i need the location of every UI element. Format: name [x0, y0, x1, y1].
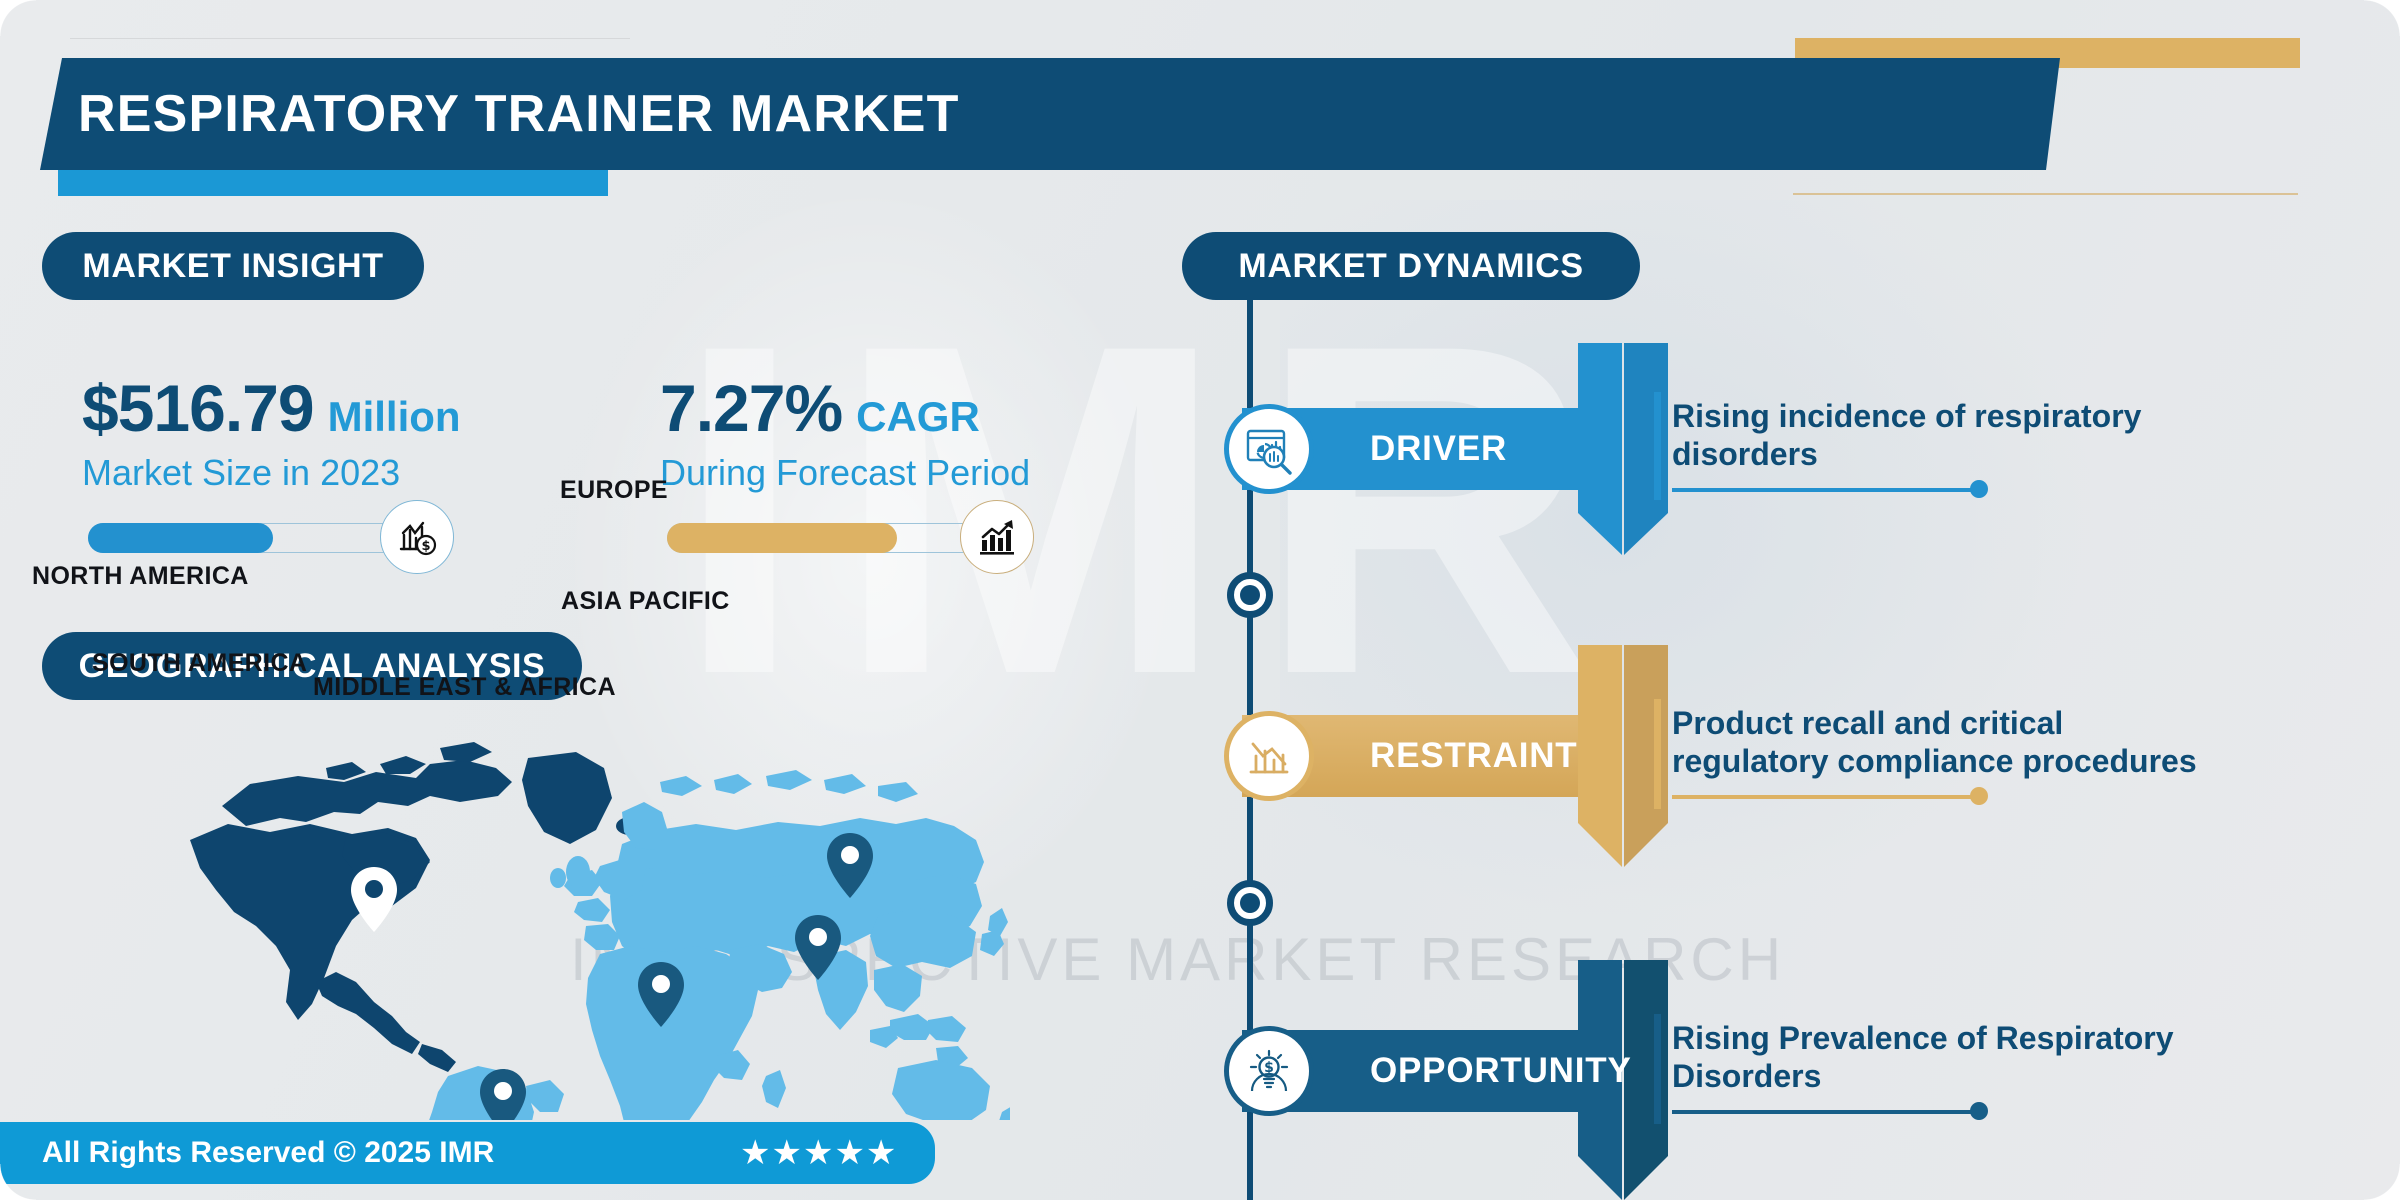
stat-market-size: $516.79Million Market Size in 2023 [82, 370, 622, 494]
footer-bar: All Rights Reserved © 2025 IMR ★★★★★ [0, 1122, 935, 1184]
header-gold-hairline [1793, 193, 2298, 195]
description-underline [1672, 486, 2312, 492]
report-magnifier-icon [1224, 404, 1314, 494]
section-pill-market-dynamics: MARKET DYNAMICS [1182, 232, 1640, 300]
stat-caption: During Forecast Period [660, 452, 1220, 494]
map-label-middle-east-africa: MIDDLE EAST & AFRICA [313, 673, 616, 702]
dynamics-label: RESTRAINT [1370, 736, 1577, 776]
section-pill-label: MARKET INSIGHT [82, 247, 383, 286]
stat-caption: Market Size in 2023 [82, 452, 622, 494]
stat-value: $516.79 [82, 370, 314, 446]
stat-value-row: $516.79Million [82, 370, 622, 446]
rating-stars: ★★★★★ [740, 1122, 897, 1184]
dynamics-description-restraint: Product recall and critical regulatory c… [1672, 705, 2312, 799]
section-pill-market-insight: MARKET INSIGHT [42, 232, 424, 300]
canvas-corner-bottom-left [0, 1164, 36, 1200]
map-label-europe: EUROPE [560, 476, 668, 505]
description-underline [1672, 1108, 2312, 1114]
stat-unit: CAGR [856, 393, 980, 441]
description-accent-bar [1654, 699, 1661, 809]
map-label-asia-pacific: ASIA PACIFIC [561, 587, 730, 616]
stat-cagr: 7.27%CAGR During Forecast Period [660, 370, 1220, 494]
lightbulb-dollar-icon: $ [1224, 1026, 1314, 1116]
svg-text:$: $ [421, 539, 430, 554]
header-hairline-left [70, 38, 630, 39]
stat-unit: Million [328, 393, 461, 441]
cagr-progress-fill [667, 523, 897, 553]
description-line-1: Rising Prevalence of Respiratory [1672, 1020, 2312, 1058]
canvas-corner-bottom-right [2364, 1164, 2400, 1200]
dynamics-label: DRIVER [1370, 429, 1507, 469]
section-pill-label: MARKET DYNAMICS [1238, 247, 1583, 286]
stat-value: 7.27% [660, 370, 842, 446]
bar-chart-dollar-icon: $ [380, 500, 454, 574]
copyright-text: All Rights Reserved © 2025 IMR [42, 1122, 494, 1184]
description-line-2: regulatory compliance procedures [1672, 743, 2312, 781]
description-underline [1672, 793, 2312, 799]
map-region-north-america [190, 742, 644, 1072]
map-region-rest-of-world [416, 770, 1010, 1120]
description-accent-bar [1654, 1014, 1661, 1124]
dynamics-label: OPPORTUNITY [1370, 1051, 1632, 1091]
description-line-2: Disorders [1672, 1058, 2312, 1096]
page-title: RESPIRATORY TRAINER MARKET [78, 72, 1878, 156]
dynamics-description-opportunity: Rising Prevalence of Respiratory Disorde… [1672, 1020, 2312, 1114]
header-accent-underline [58, 170, 608, 196]
description-line-1: Product recall and critical [1672, 705, 2312, 743]
growth-chart-arrow-icon [960, 500, 1034, 574]
stat-value-row: 7.27%CAGR [660, 370, 1220, 446]
timeline-node-2 [1227, 880, 1273, 926]
canvas-corner-top-right [2364, 0, 2400, 36]
declining-bar-chart-icon [1224, 711, 1314, 801]
dynamics-description-driver: Rising incidence of respiratory disorder… [1672, 398, 2312, 492]
description-line-1: Rising incidence of respiratory [1672, 398, 2312, 436]
map-label-south-america: SOUTH AMERICA [92, 649, 307, 678]
description-line-2: disorders [1672, 436, 2312, 474]
canvas-corner-top-left [0, 0, 36, 36]
description-accent-bar [1654, 392, 1661, 500]
infographic-canvas: IMR INTROSPECTIVE MARKET RESEARCH RESPIR… [0, 0, 2400, 1200]
world-map [130, 720, 1010, 1120]
timeline-node-1 [1227, 572, 1273, 618]
map-label-north-america: NORTH AMERICA [32, 562, 249, 591]
market-size-progress-fill [88, 523, 273, 553]
